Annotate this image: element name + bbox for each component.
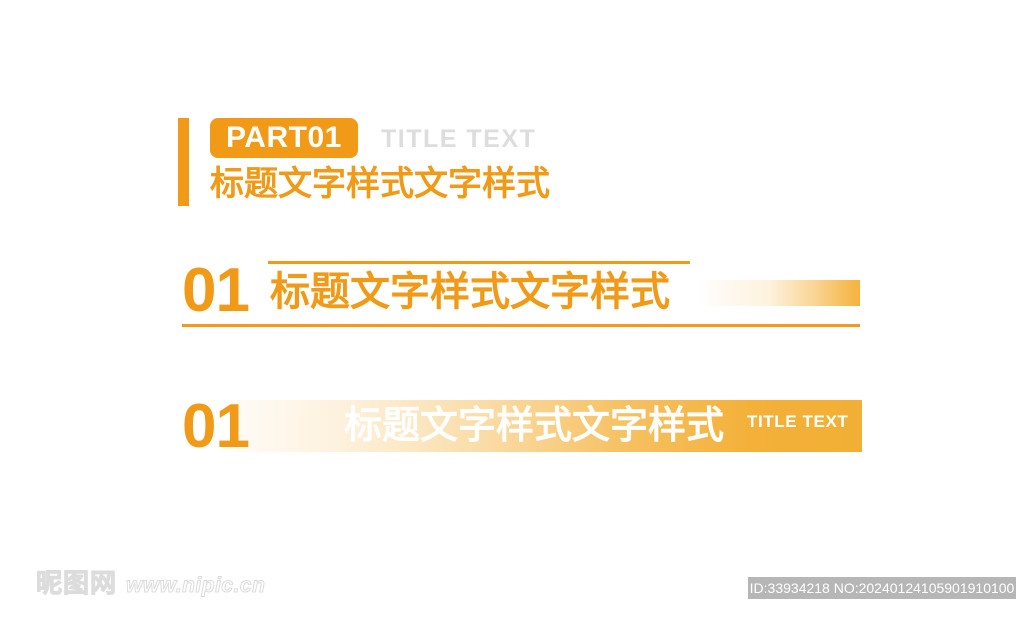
asset-id-text: ID:33934218 NO:20240124105901910100 — [750, 580, 1015, 596]
block1-english-subtitle: TITLE TEXT — [381, 125, 536, 154]
design-canvas: PART01 TITLE TEXT 标题文字样式文字样式 01 标题文字样式文字… — [0, 0, 1024, 621]
block2-number: 01 — [182, 260, 249, 322]
title-block-part01: PART01 TITLE TEXT 标题文字样式文字样式 — [178, 112, 878, 212]
block3-chinese-title: 标题文字样式文字样式 — [344, 407, 724, 445]
block1-chinese-title: 标题文字样式文字样式 — [210, 164, 550, 205]
top-divider-rule — [268, 261, 690, 264]
title-block-filled-banner: 01 标题文字样式文字样式 TITLE TEXT — [182, 398, 862, 458]
part-badge-label: PART01 — [226, 123, 342, 153]
part-badge[interactable]: PART01 — [210, 118, 358, 158]
block3-english-subtitle: TITLE TEXT — [747, 412, 848, 432]
title-block-numbered-rules: 01 标题文字样式文字样式 — [182, 248, 862, 334]
site-watermark: 昵图网 www.nipic.cn — [36, 570, 265, 596]
block2-chinese-title: 标题文字样式文字样式 — [270, 272, 670, 312]
block3-number: 01 — [182, 396, 249, 458]
watermark-chinese-logo: 昵图网 — [36, 570, 117, 596]
asset-id-band: ID:33934218 NO:20240124105901910100 — [748, 577, 1016, 599]
bottom-divider-rule — [182, 324, 860, 327]
gradient-accent-bar-2 — [697, 280, 860, 306]
watermark-url: www.nipic.cn — [126, 575, 265, 596]
vertical-accent-bar — [178, 118, 189, 206]
